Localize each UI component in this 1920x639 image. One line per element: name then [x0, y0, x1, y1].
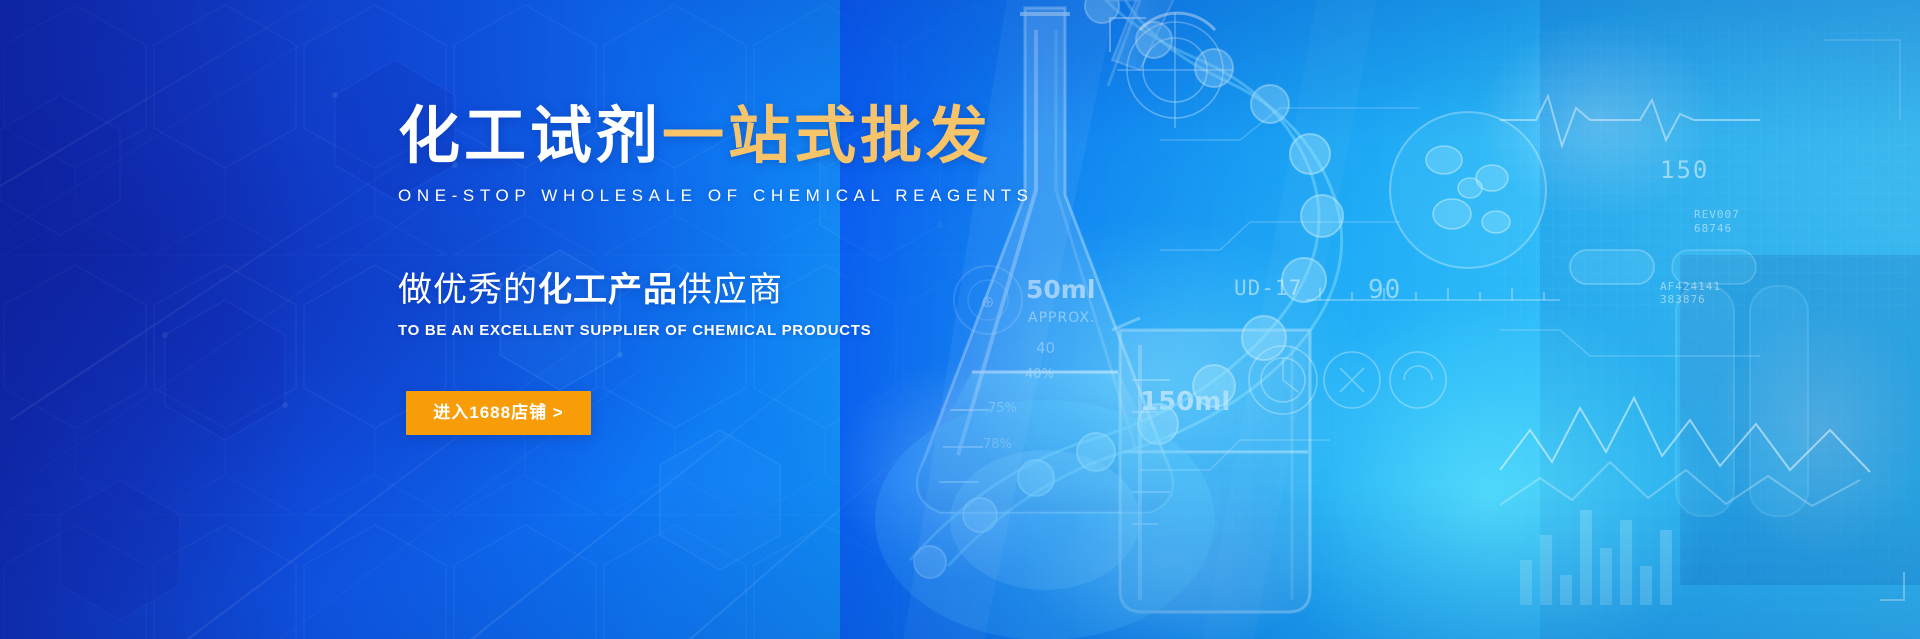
tagline-lead: 做优秀的 [398, 271, 538, 309]
svg-text:AF424141: AF424141 [1660, 280, 1721, 293]
promo-banner: 50ml APPROX. 40 40% 75% 78% ⊕ [0, 0, 1920, 639]
svg-text:383876: 383876 [1660, 293, 1706, 306]
tagline-emphasis: 化工产品 [538, 271, 678, 309]
headline-primary: 化工试剂 [398, 102, 662, 171]
svg-text:150: 150 [1660, 156, 1709, 184]
banner-copy-block: 化工试剂一站式批发 ONE-STOP WHOLESALE OF CHEMICAL… [398, 106, 1118, 435]
tagline-trail: 供应商 [678, 271, 783, 309]
subtitle-english: ONE-STOP WHOLESALE OF CHEMICAL REAGENTS [398, 186, 1118, 206]
svg-text:68746: 68746 [1694, 222, 1732, 235]
petri-dish-cells [1390, 112, 1546, 268]
enter-1688-store-button[interactable]: 进入1688店铺 > [406, 391, 591, 435]
page-title: 化工试剂一站式批发 [398, 106, 1118, 168]
tagline-english: TO BE AN EXCELLENT SUPPLIER OF CHEMICAL … [398, 322, 1118, 339]
tagline: 做优秀的化工产品供应商 [398, 262, 1118, 311]
svg-text:REV007: REV007 [1694, 208, 1740, 221]
svg-text:90: 90 [1368, 275, 1401, 305]
crosshair-target [1117, 12, 1233, 128]
headline-accent: 一站式批发 [662, 102, 992, 171]
